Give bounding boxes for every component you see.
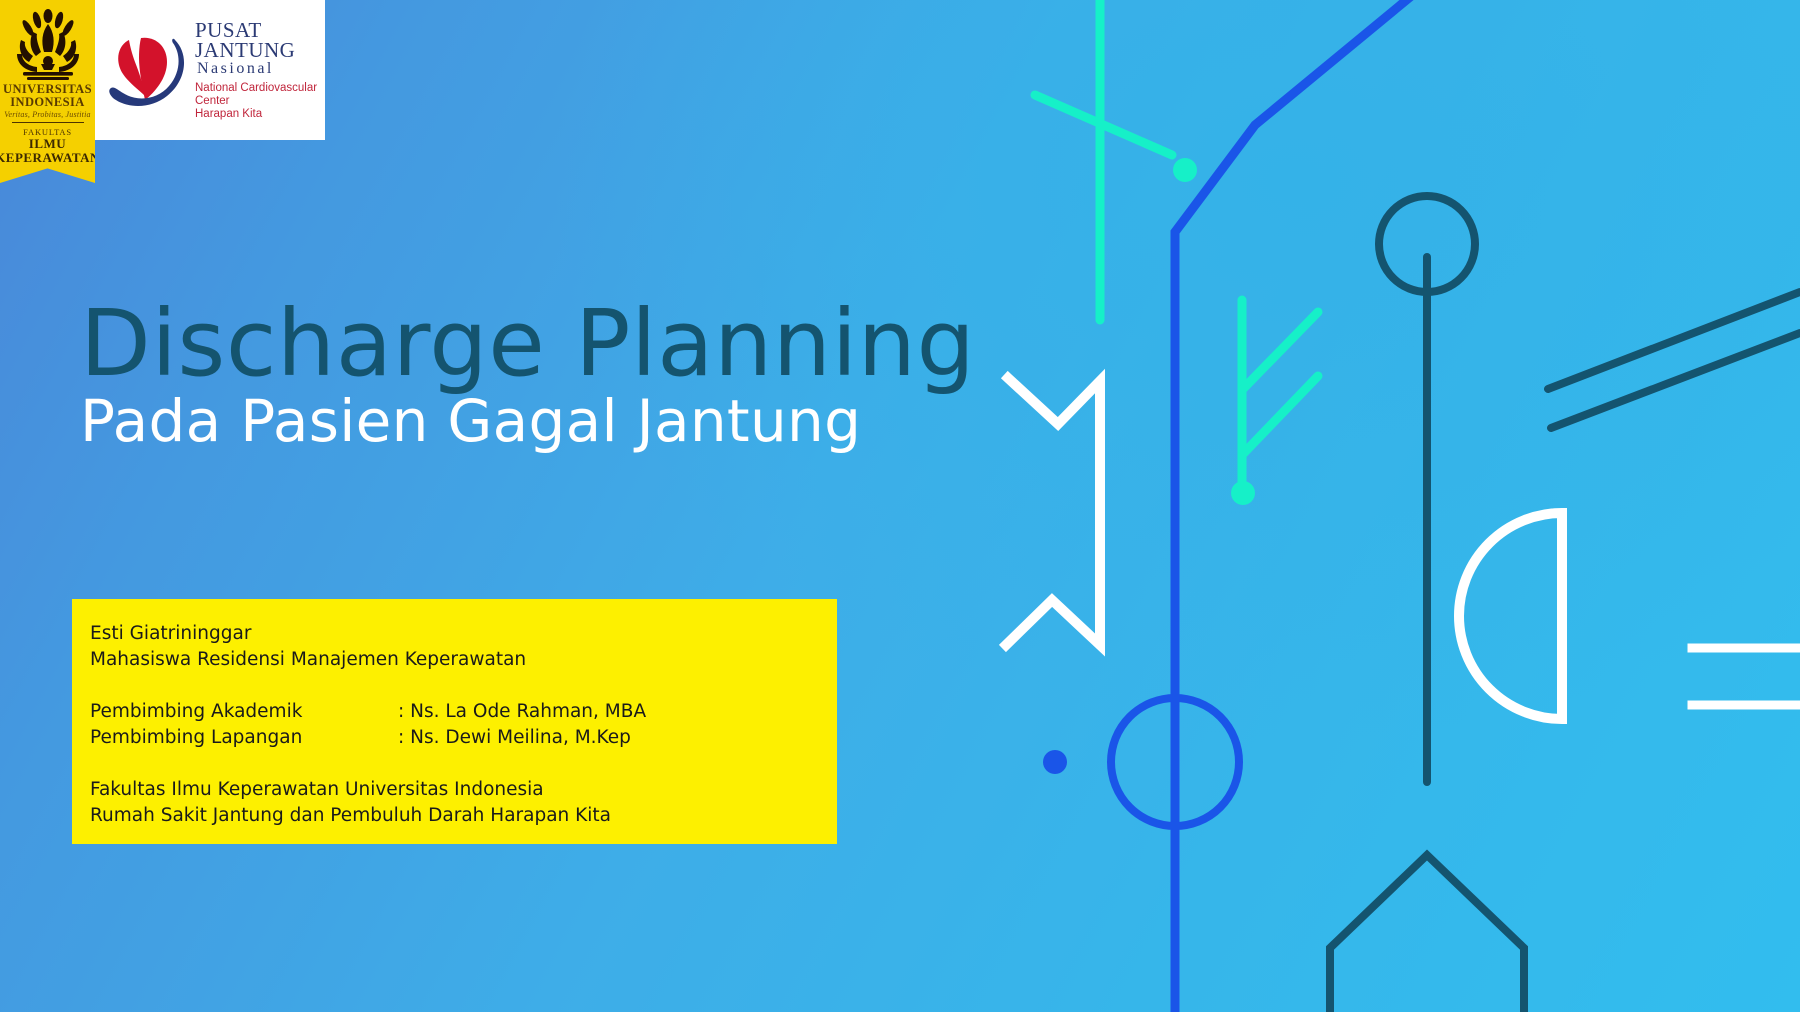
blue-polygon-outline — [1175, 0, 1455, 1012]
cyan-branch-arrow — [1242, 300, 1318, 485]
ui-logo-divider — [12, 122, 84, 123]
supervisor-field-row: Pembimbing Lapangan : Ns. Dewi Meilina, … — [90, 725, 837, 751]
ui-logo-line2: INDONESIA — [10, 96, 84, 109]
spacer-1 — [90, 673, 837, 699]
pjn-logo-line1: PUSAT — [195, 20, 325, 40]
white-ribbon-chevron — [1006, 378, 1100, 645]
teal-diagonal-line-b — [1551, 333, 1800, 428]
teal-diagonal-line-a — [1548, 292, 1800, 389]
supervisor-field-name: : Ns. Dewi Meilina, M.Kep — [398, 725, 631, 751]
spacer-2 — [90, 751, 837, 777]
pjn-logo-subtitle-line2: Harapan Kita — [195, 108, 325, 121]
title-block: Discharge Planning Pada Pasien Gagal Jan… — [80, 296, 975, 454]
heart-swoosh-emblem-icon — [99, 24, 191, 116]
supervisor-academic-name: : Ns. La Ode Rahman, MBA — [398, 699, 646, 725]
blue-circle-outline — [1111, 698, 1239, 826]
supervisor-academic-row: Pembimbing Akademik : Ns. La Ode Rahman,… — [90, 699, 837, 725]
presentation-slide: UNIVERSITAS INDONESIA Veritas, Probitas,… — [0, 0, 1800, 1012]
author-info-box: Esti Giatrininggar Mahasiswa Residensi M… — [72, 599, 837, 844]
ui-logo-faculty-line2: KEPERAWATAN — [0, 151, 100, 165]
universitas-indonesia-logo: UNIVERSITAS INDONESIA Veritas, Probitas,… — [0, 0, 95, 183]
pjn-logo-subtitle-line1: National Cardiovascular Center — [195, 82, 325, 108]
ui-logo-motto: Veritas, Probitas, Justitia — [4, 110, 90, 119]
cyan-dot-middle — [1231, 481, 1255, 505]
slide-title: Discharge Planning — [80, 296, 975, 392]
pjn-logo-line2: JANTUNG — [195, 40, 325, 60]
cyan-dot-top — [1173, 158, 1197, 182]
institution-line-1: Fakultas Ilmu Keperawatan Universitas In… — [90, 777, 837, 803]
author-program: Mahasiswa Residensi Manajemen Keperawata… — [90, 647, 837, 673]
white-semicircle — [1459, 513, 1562, 719]
makara-ui-emblem-icon — [11, 6, 85, 82]
teal-arrow-house — [1330, 855, 1524, 1012]
slide-subtitle: Pada Pasien Gagal Jantung — [80, 388, 975, 454]
logo-bar: UNIVERSITAS INDONESIA Veritas, Probitas,… — [0, 0, 325, 183]
supervisor-field-role: Pembimbing Lapangan — [90, 725, 398, 751]
author-name: Esti Giatrininggar — [90, 621, 837, 647]
pusat-jantung-nasional-logo: PUSAT JANTUNG Nasional National Cardiova… — [95, 0, 325, 140]
institution-line-2: Rumah Sakit Jantung dan Pembuluh Darah H… — [90, 803, 837, 829]
teal-circle-on-stem — [1379, 196, 1475, 292]
supervisor-academic-role: Pembimbing Akademik — [90, 699, 398, 725]
blue-dot — [1043, 750, 1067, 774]
pjn-logo-line3: Nasional — [197, 60, 325, 77]
cyan-diagonal-line-top — [1035, 95, 1172, 155]
ui-logo-faculty-line1: ILMU — [29, 137, 66, 151]
